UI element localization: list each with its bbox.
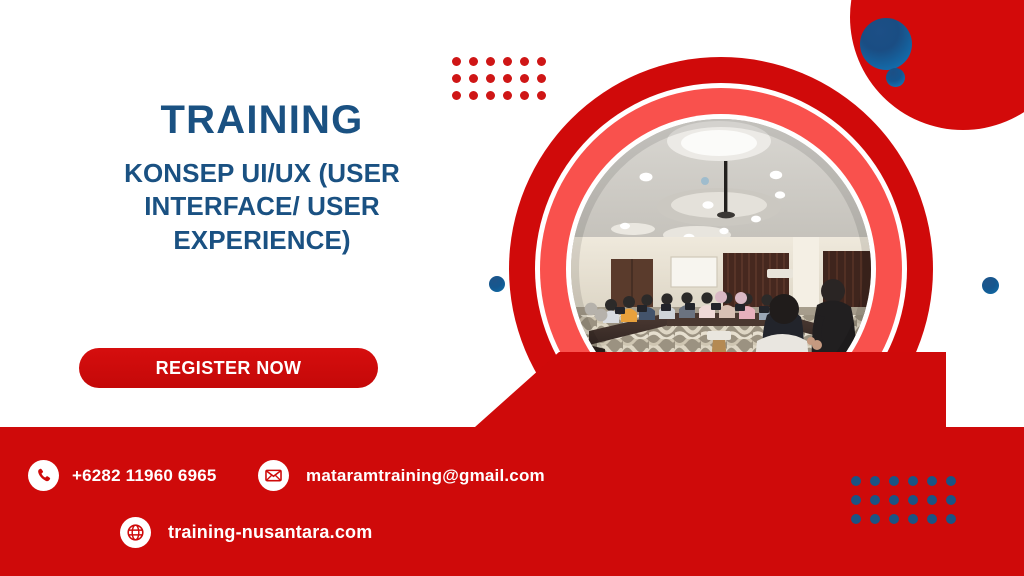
contact-website-value: training-nusantara.com: [168, 522, 372, 543]
headline-block: TRAINING KONSEP UI/UX (USER INTERFACE/ U…: [77, 100, 447, 257]
globe-icon: [120, 517, 151, 548]
contact-phone-value: +6282 11960 6965: [72, 466, 217, 486]
contact-email-value: mataramtraining@gmail.com: [306, 466, 545, 486]
red-dot-grid-decor: [452, 57, 546, 100]
envelope-icon: [258, 460, 289, 491]
page-subtitle: KONSEP UI/UX (USER INTERFACE/ USER EXPER…: [77, 157, 447, 257]
contact-website[interactable]: training-nusantara.com: [120, 517, 372, 548]
blue-dot-left-decor: [489, 276, 505, 292]
blue-dot-grid-decor: [851, 476, 956, 524]
poster-canvas: TRAINING KONSEP UI/UX (USER INTERFACE/ U…: [0, 0, 1024, 576]
page-title: TRAINING: [77, 100, 447, 140]
page-subtitle-line-3: EXPERIENCE): [77, 224, 447, 257]
page-subtitle-line-2: INTERFACE/ USER: [77, 190, 447, 223]
phone-icon: [28, 460, 59, 491]
register-now-button[interactable]: REGISTER NOW: [79, 348, 378, 388]
blue-circle-small-decor: [886, 68, 905, 87]
contact-phone[interactable]: +6282 11960 6965: [28, 460, 217, 491]
contact-email[interactable]: mataramtraining@gmail.com: [258, 460, 545, 491]
blue-dot-right-decor: [982, 277, 999, 294]
blue-circle-large-decor: [860, 18, 912, 70]
page-subtitle-line-1: KONSEP UI/UX (USER: [77, 157, 447, 190]
